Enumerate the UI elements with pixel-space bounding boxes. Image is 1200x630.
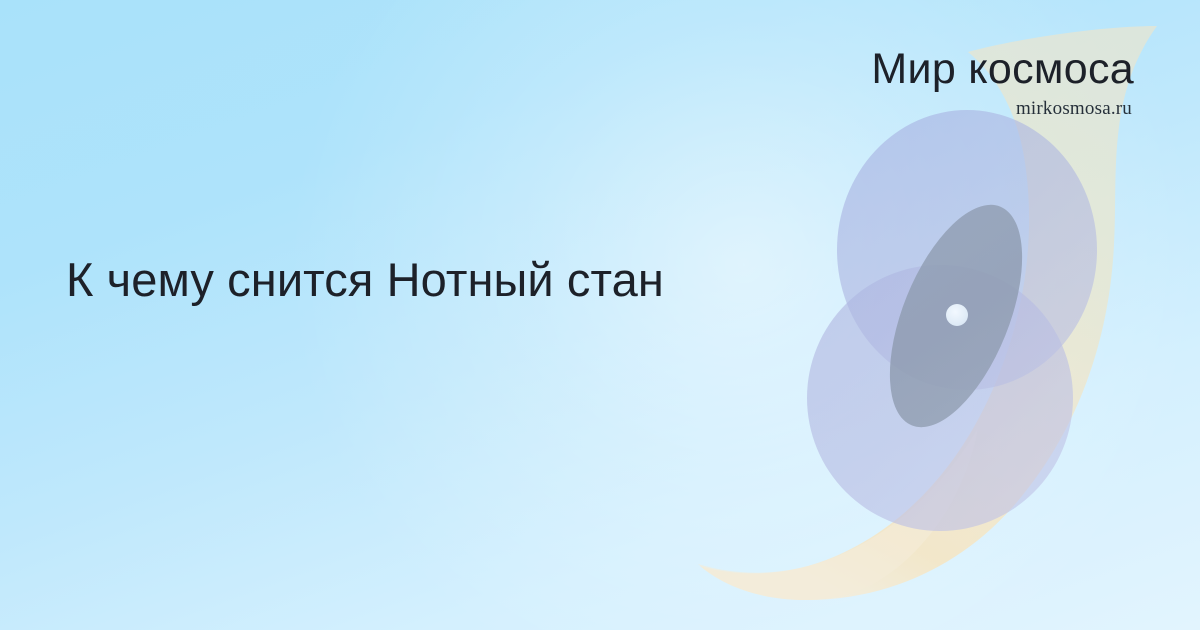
center-dot	[946, 304, 968, 326]
brand-name: Мир космоса	[871, 48, 1134, 92]
lower-lavender-circle	[807, 265, 1073, 531]
brand-url: mirkosmosa.ru	[871, 99, 1132, 118]
social-share-card: К чему снится Нотный стан Мир космоса mi…	[0, 0, 1200, 630]
cream-crescent-lower-tail	[698, 428, 978, 600]
slate-ellipse	[863, 187, 1050, 446]
page-title: К чему снится Нотный стан	[66, 252, 786, 307]
site-brand: Мир космоса mirkosmosa.ru	[871, 48, 1134, 118]
upper-lavender-circle	[837, 110, 1097, 390]
